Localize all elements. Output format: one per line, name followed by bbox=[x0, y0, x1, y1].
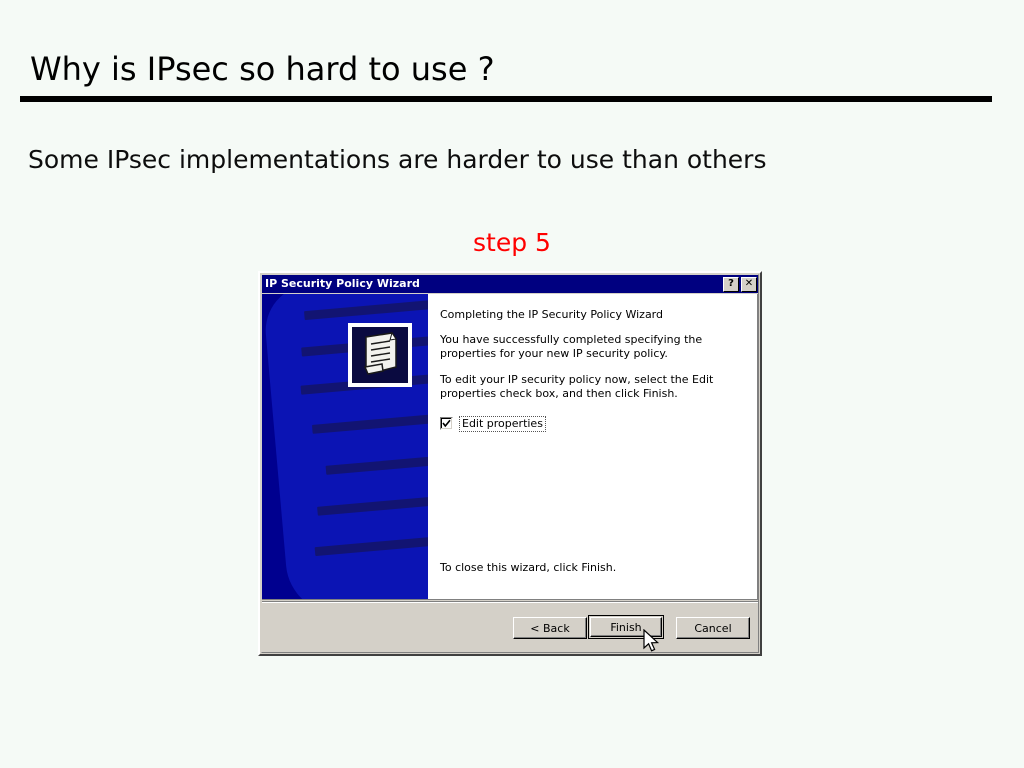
dialog-footer: < Back Finish Cancel bbox=[262, 601, 758, 652]
edit-properties-label[interactable]: Edit properties bbox=[459, 416, 546, 432]
slide-subtitle: Some IPsec implementations are harder to… bbox=[28, 145, 767, 174]
footer-separator bbox=[262, 601, 758, 603]
dialog-titlebar[interactable]: IP Security Policy Wizard ? ✕ bbox=[262, 275, 758, 293]
cancel-button[interactable]: Cancel bbox=[676, 617, 750, 639]
title-divider bbox=[20, 96, 992, 102]
default-button-frame: Finish bbox=[588, 615, 664, 639]
close-icon[interactable]: ✕ bbox=[741, 277, 757, 292]
wizard-heading: Completing the IP Security Policy Wizard bbox=[440, 308, 745, 322]
dialog-client-area: Completing the IP Security Policy Wizard… bbox=[262, 294, 758, 600]
checkmark-icon bbox=[442, 419, 451, 428]
dialog-title-text: IP Security Policy Wizard bbox=[265, 275, 721, 293]
help-icon[interactable]: ? bbox=[723, 277, 739, 292]
wizard-content-pane: Completing the IP Security Policy Wizard… bbox=[428, 294, 757, 599]
edit-properties-checkbox[interactable] bbox=[440, 417, 453, 430]
page-title: Why is IPsec so hard to use ? bbox=[30, 50, 495, 88]
wizard-paragraph-2: To edit your IP security policy now, sel… bbox=[440, 373, 732, 401]
wizard-paragraph-1: You have successfully completed specifyi… bbox=[440, 333, 732, 361]
scroll-document-icon bbox=[348, 323, 412, 387]
finish-button[interactable]: Finish bbox=[590, 617, 662, 637]
dialog-button-row: < Back Finish Cancel bbox=[513, 617, 750, 639]
wizard-watermark-panel bbox=[262, 294, 428, 599]
step-caption: step 5 bbox=[0, 228, 1024, 257]
edit-properties-row[interactable]: Edit properties bbox=[440, 416, 745, 432]
ip-security-policy-wizard-dialog: IP Security Policy Wizard ? ✕ bbox=[258, 271, 762, 656]
back-button[interactable]: < Back bbox=[513, 617, 587, 639]
close-wizard-note: To close this wizard, click Finish. bbox=[440, 561, 616, 574]
